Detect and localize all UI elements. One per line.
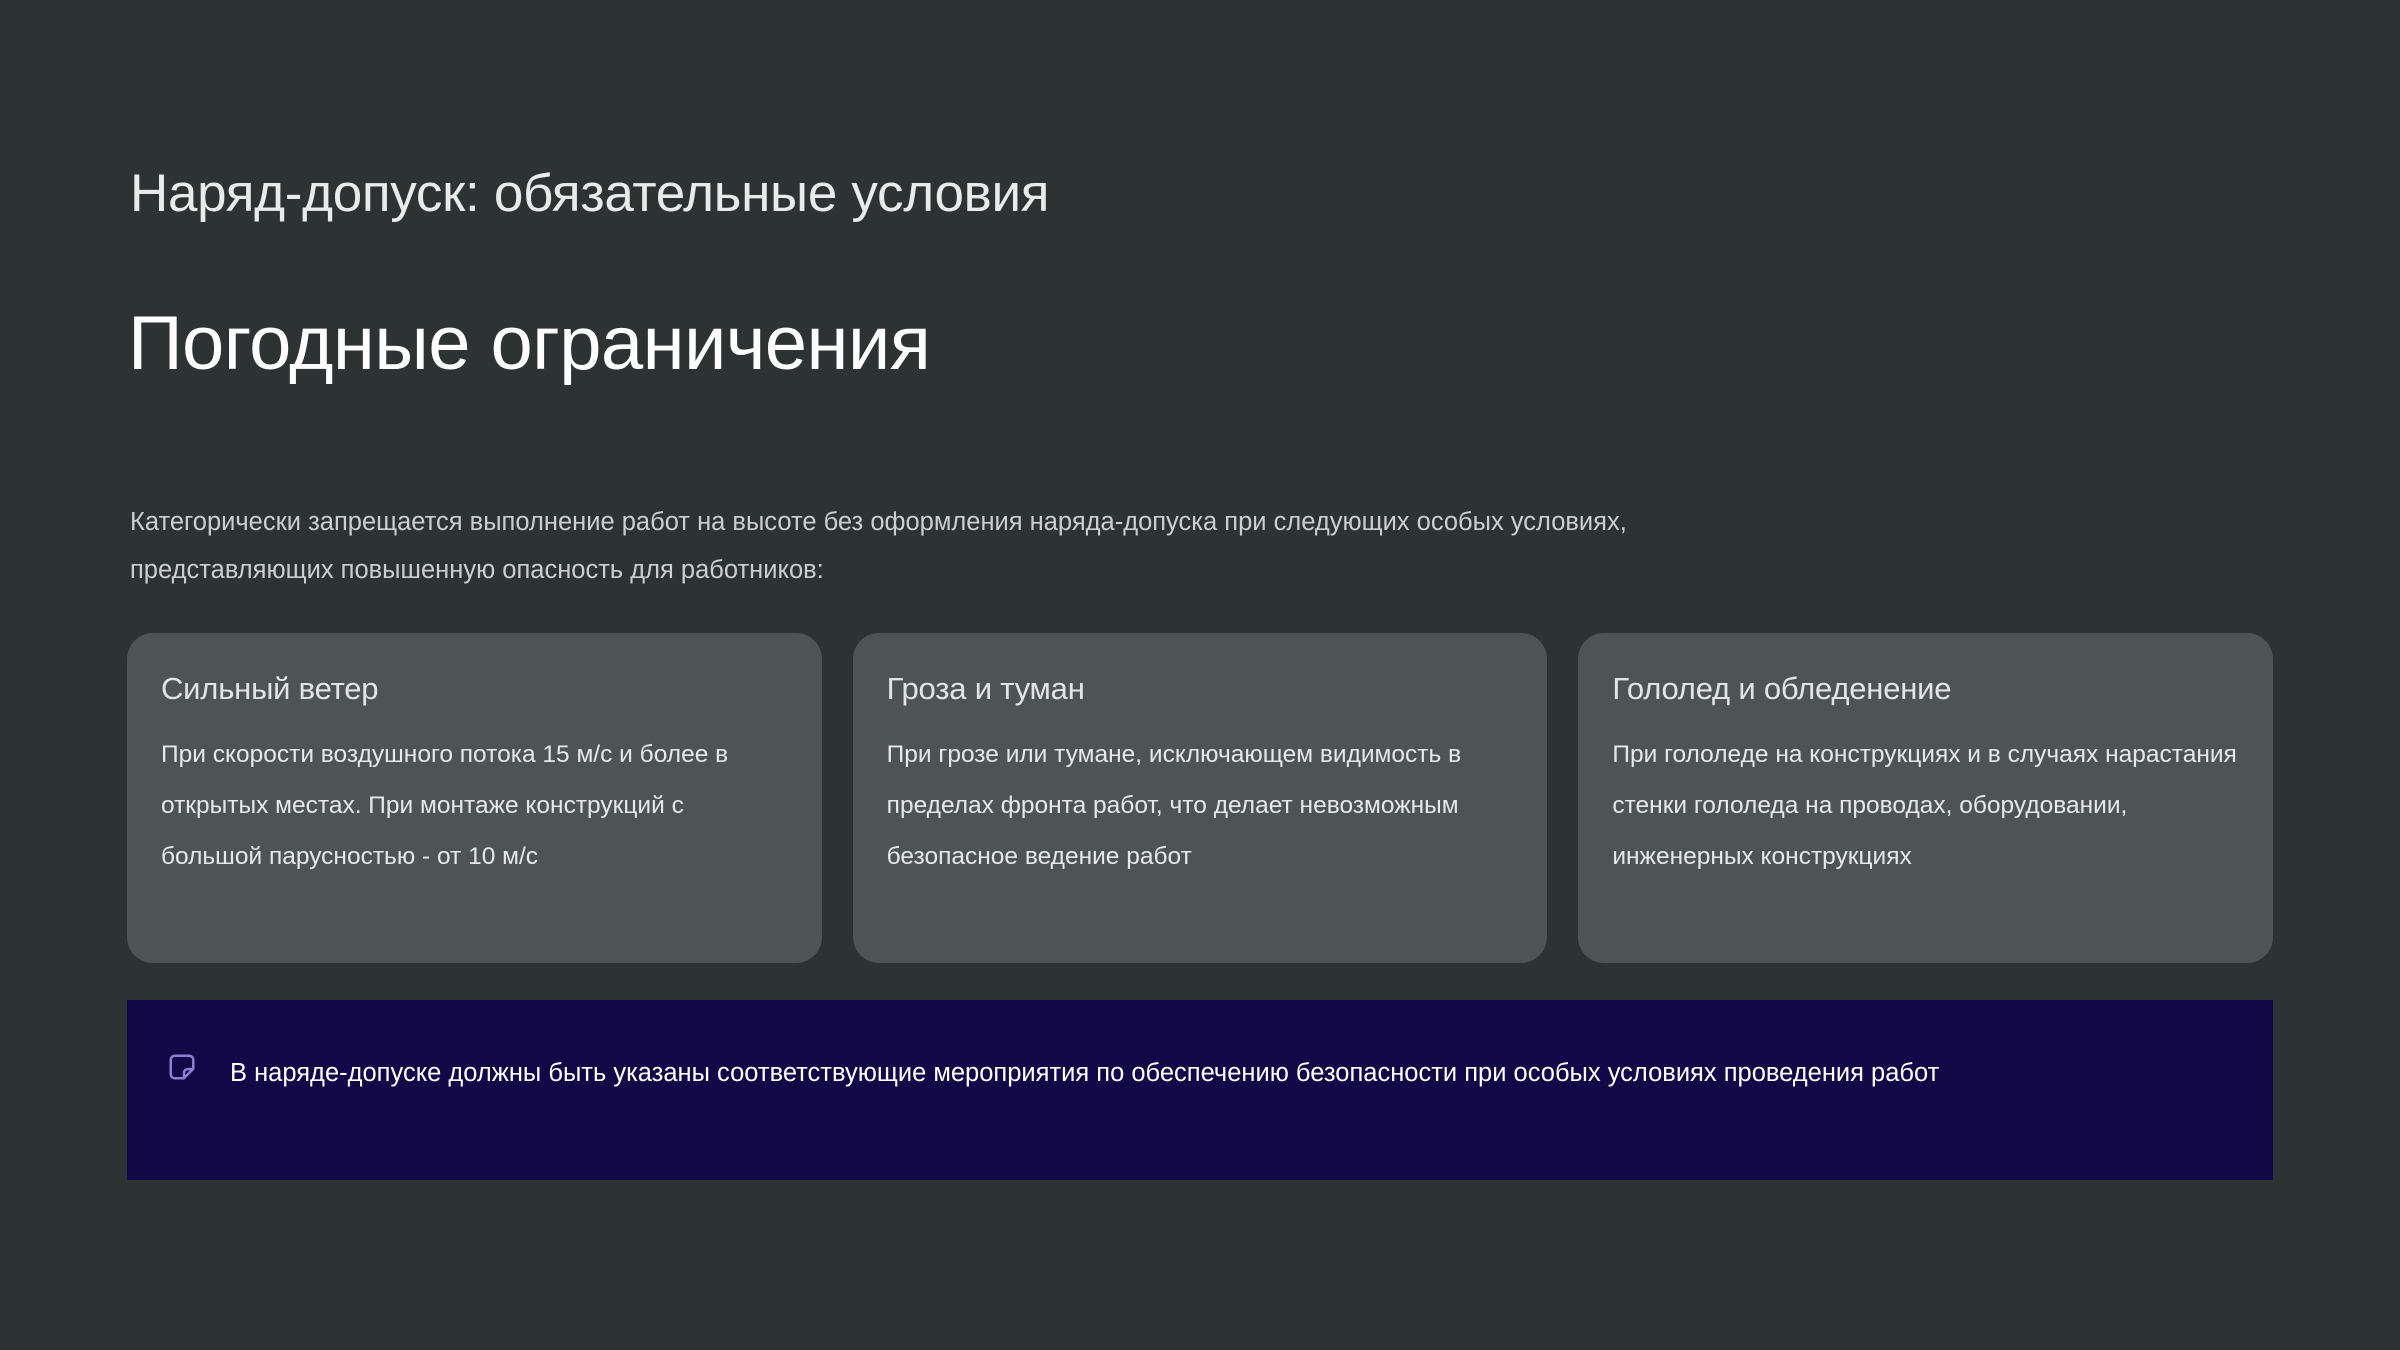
card-title: Гололед и обледенение — [1612, 671, 2239, 707]
card-title: Гроза и туман — [887, 671, 1514, 707]
banner-text: В наряде-допуске должны быть указаны соо… — [230, 1048, 1939, 1098]
condition-card-thunderstorm-fog: Гроза и туман При грозе или тумане, искл… — [853, 633, 1548, 963]
card-body: При скорости воздушного потока 15 м/с и … — [161, 729, 788, 882]
card-title: Сильный ветер — [161, 671, 788, 707]
intro-paragraph: Категорически запрещается выполнение раб… — [130, 498, 2230, 594]
card-body: При гололеде на конструкциях и в случаях… — [1612, 729, 2239, 882]
requirement-callout-banner: В наряде-допуске должны быть указаны соо… — [127, 1000, 2273, 1180]
intro-line-1: Категорически запрещается выполнение раб… — [130, 498, 2230, 546]
note-icon — [167, 1052, 197, 1082]
intro-line-2: представляющих повышенную опасность для … — [130, 546, 2230, 594]
condition-card-ice: Гололед и обледенение При гололеде на ко… — [1578, 633, 2273, 963]
condition-card-strong-wind: Сильный ветер При скорости воздушного по… — [127, 633, 822, 963]
page-title: Погодные ограничения — [128, 300, 930, 387]
slide-root: Наряд-допуск: обязательные условия Погод… — [0, 0, 2400, 1350]
card-body: При грозе или тумане, исключающем видимо… — [887, 729, 1514, 882]
slide-eyebrow-title: Наряд-допуск: обязательные условия — [130, 163, 1049, 224]
condition-card-list: Сильный ветер При скорости воздушного по… — [127, 633, 2273, 963]
